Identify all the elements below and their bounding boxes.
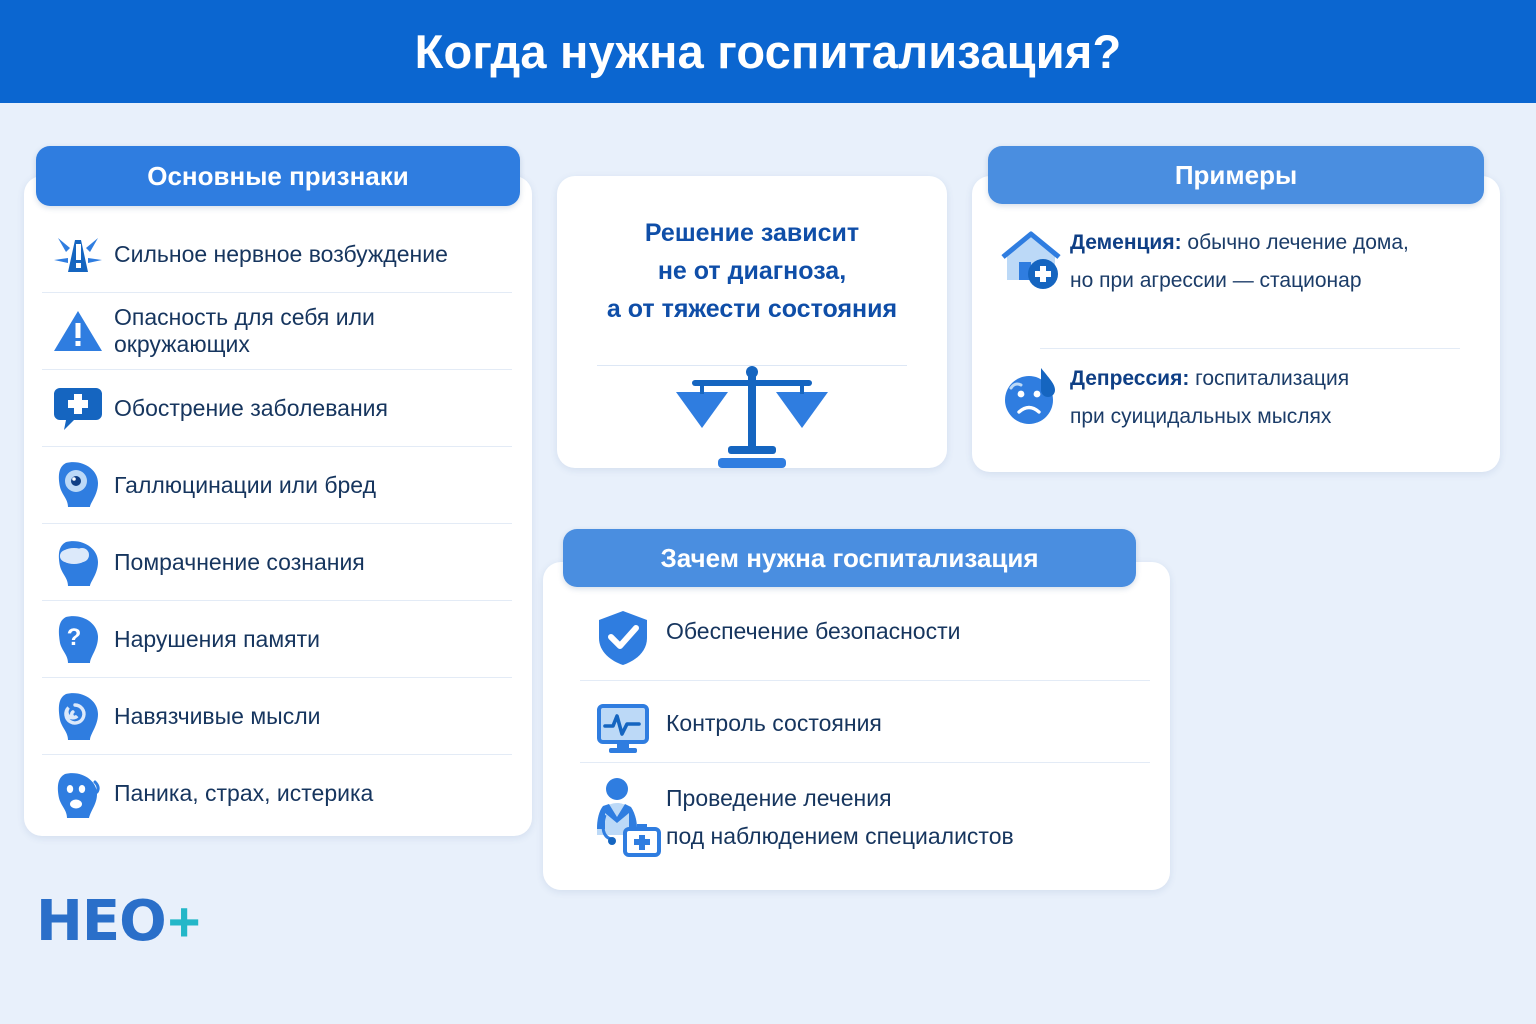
list-item[interactable]: Галлюцинации или бред (42, 447, 512, 524)
example-rest-label: обычно лечение дома, (1182, 231, 1409, 254)
logo-text: HEO (36, 889, 166, 954)
list-item[interactable]: Обеспечение безопасности (580, 608, 1140, 668)
list-item-label: Сильное нервное возбуждение (114, 241, 448, 268)
list-item[interactable]: Контроль состояния (580, 700, 1140, 756)
example-bold-label: Депрессия: (1070, 367, 1189, 390)
why-header-label: Зачем нужна госпитализация (660, 543, 1038, 574)
doctor-icon (580, 775, 666, 859)
example-line2-label: но при агрессии — стационар (1070, 269, 1362, 292)
why-line1-label: Обеспечение безопасности (666, 618, 961, 644)
decision-line-3: а от тяжести состояния (577, 290, 927, 328)
medical-cross-speech-icon (42, 384, 114, 432)
list-item[interactable]: Обострение заболевания (42, 370, 512, 447)
why-line2-label: под наблюдением специалистов (666, 823, 1014, 849)
warning-triangle-icon (42, 308, 114, 354)
why-line1-label: Проведение лечения (666, 785, 892, 811)
list-item-label: Нарушения памяти (114, 626, 320, 653)
why-divider-2 (580, 762, 1150, 763)
sad-face-drop-icon (992, 360, 1070, 428)
why-line1-label: Контроль состояния (666, 710, 882, 736)
why-card-header: Зачем нужна госпитализация (563, 529, 1136, 587)
decision-line-2: не от диагноза, (577, 252, 927, 290)
head-eye-icon (42, 459, 114, 511)
why-text: Контроль состояния (666, 700, 882, 742)
scales-balance-icon (672, 362, 832, 477)
list-item[interactable]: Деменция: обычно лечение дома, но при аг… (992, 224, 1484, 300)
decision-line-1: Решение зависит (577, 214, 927, 252)
page-header: Когда нужна госпитализация? (0, 0, 1536, 103)
example-text: Депрессия: госпитализация при суицидальн… (1070, 360, 1349, 436)
example-text: Деменция: обычно лечение дома, но при аг… (1070, 224, 1409, 300)
list-item-label: Опасность для себя или окружающих (114, 304, 512, 358)
signs-header-label: Основные признаки (147, 161, 409, 192)
list-item[interactable]: Опасность для себя или окружающих (42, 293, 512, 370)
examples-card-header: Примеры (988, 146, 1484, 204)
list-item[interactable]: Паника, страх, истерика (42, 755, 512, 832)
list-item[interactable]: ? Нарушения памяти (42, 601, 512, 678)
exclamation-burst-icon (42, 230, 114, 278)
logo: HEO + (36, 890, 200, 952)
list-item[interactable]: Проведение лечения под наблюдением специ… (580, 775, 1140, 859)
list-item[interactable]: Сильное нервное возбуждение (42, 216, 512, 293)
list-item-label: Обострение заболевания (114, 395, 388, 422)
head-cloud-icon (42, 536, 114, 588)
list-item-label: Навязчивые мысли (114, 703, 320, 730)
page-title: Когда нужна госпитализация? (415, 24, 1122, 79)
example-rest-label: госпитализация (1189, 367, 1349, 390)
list-item-label: Галлюцинации или бред (114, 472, 376, 499)
house-medical-icon (992, 224, 1070, 292)
list-item[interactable]: Помрачнение сознания (42, 524, 512, 601)
list-item-label: Паника, страх, истерика (114, 780, 373, 807)
example-bold-label: Деменция: (1070, 231, 1182, 254)
svg-text:?: ? (67, 624, 82, 651)
signs-card-header: Основные признаки (36, 146, 520, 206)
list-item[interactable]: Навязчивые мысли (42, 678, 512, 755)
why-text: Обеспечение безопасности (666, 608, 961, 650)
why-text: Проведение лечения под наблюдением специ… (666, 775, 1014, 855)
example-line2-label: при суицидальных мыслях (1070, 405, 1331, 428)
signs-list: Сильное нервное возбуждение Опасность дл… (42, 216, 512, 832)
shield-check-icon (580, 608, 666, 668)
list-item-label: Помрачнение сознания (114, 549, 365, 576)
why-divider-1 (580, 680, 1150, 681)
examples-divider (1040, 348, 1460, 349)
decision-text: Решение зависит не от диагноза, а от тяж… (577, 214, 927, 328)
head-panic-icon (42, 768, 114, 820)
logo-plus-icon: + (168, 889, 201, 954)
monitor-ecg-icon (580, 700, 666, 756)
head-question-icon: ? (42, 613, 114, 665)
examples-header-label: Примеры (1175, 160, 1297, 191)
list-item[interactable]: Депрессия: госпитализация при суицидальн… (992, 360, 1484, 436)
head-spiral-icon (42, 690, 114, 742)
